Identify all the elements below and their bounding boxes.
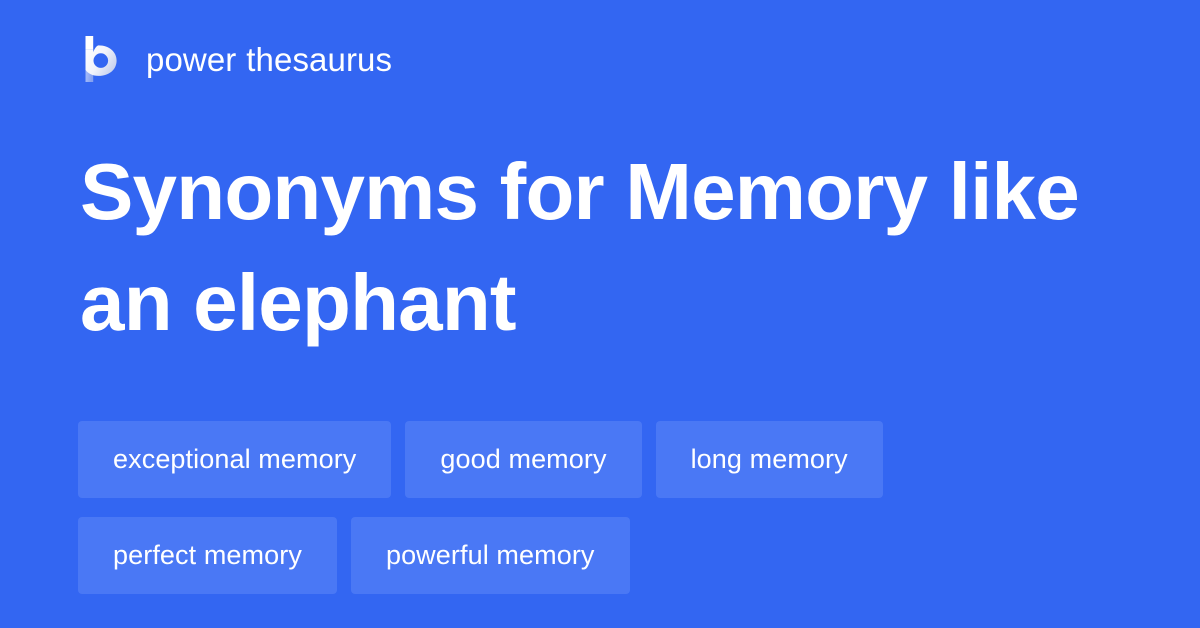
power-thesaurus-logo-icon	[78, 36, 124, 82]
brand-wordmark: power thesaurus	[146, 43, 392, 76]
synonym-chip-list: exceptional memory good memory long memo…	[78, 421, 1128, 594]
synonym-chip[interactable]: powerful memory	[351, 517, 630, 594]
synonym-chip[interactable]: good memory	[405, 421, 641, 498]
og-card: power thesaurus Synonyms for Memory like…	[0, 0, 1200, 628]
synonym-chip[interactable]: long memory	[656, 421, 883, 498]
brand-lockup[interactable]: power thesaurus	[78, 28, 392, 90]
brand-word-thesaurus: thesaurus	[246, 43, 392, 76]
synonym-chip[interactable]: perfect memory	[78, 517, 337, 594]
page-title: Synonyms for Memory like an elephant	[80, 136, 1140, 358]
synonym-chip[interactable]: exceptional memory	[78, 421, 391, 498]
brand-word-power: power	[146, 43, 236, 76]
